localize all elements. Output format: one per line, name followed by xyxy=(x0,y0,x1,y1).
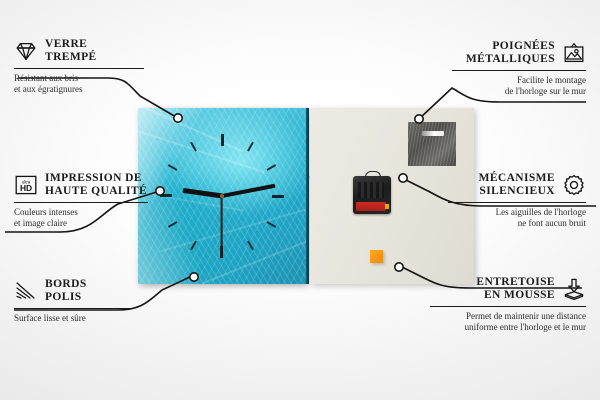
callout-bords-polis: BORDS POLIS Surface lisse et sûre xyxy=(14,278,132,324)
callout-divider xyxy=(14,308,132,309)
gear-icon xyxy=(562,173,586,197)
picture-hanger-icon xyxy=(562,41,586,65)
foam-spacer xyxy=(370,250,383,263)
callout-title-line2: HAUTE QUALITÉ xyxy=(45,185,147,198)
callout-title-line1: POIGNÉES xyxy=(466,40,555,53)
infographic-canvas: VERRE TREMPÉ Résistant aux bris et aux é… xyxy=(0,0,600,400)
callout-divider xyxy=(448,202,586,203)
callout-title-line1: ENTRETOISE xyxy=(476,276,555,289)
callout-desc-line1: Permet de maintenir une distance xyxy=(430,311,586,322)
callout-desc-line2: ne font aucun bruit xyxy=(448,218,586,229)
callout-title-line2: MÉTALLIQUES xyxy=(466,53,555,66)
callout-divider xyxy=(430,306,586,307)
hanger-plate xyxy=(408,122,456,166)
svg-text:HD: HD xyxy=(20,183,32,193)
clock-center-pin xyxy=(220,194,224,198)
mechanism-vents xyxy=(358,182,384,198)
callout-desc-line2: de l'horloge sur le mur xyxy=(452,86,586,97)
callout-title-line1: BORDS xyxy=(45,278,87,291)
callout-title-line1: VERRE xyxy=(45,38,97,51)
callout-title-line1: MÉCANISME xyxy=(479,172,555,185)
callout-mecanisme-silencieux: MÉCANISME SILENCIEUX Les aiguilles de l'… xyxy=(448,172,586,229)
clock-front-panel xyxy=(138,108,306,284)
foam-spacer-icon xyxy=(562,277,586,301)
callout-desc-line1: Les aiguilles de l'horloge xyxy=(448,207,586,218)
callout-title-line2: SILENCIEUX xyxy=(479,185,555,198)
callout-desc-line1: Surface lisse et sûre xyxy=(14,313,132,324)
callout-title-line2: EN MOUSSE xyxy=(476,289,555,302)
callout-desc-line2: et aux égratignures xyxy=(14,84,144,95)
callout-desc-line1: Résistant aux bris xyxy=(14,73,144,84)
callout-desc-line1: Facilite le montage xyxy=(452,75,586,86)
callout-divider xyxy=(14,202,148,203)
callout-desc-line1: Couleurs intenses xyxy=(14,207,148,218)
callout-divider xyxy=(14,68,144,69)
clock-mechanism xyxy=(353,176,391,214)
battery xyxy=(356,202,386,211)
callout-impression-haute-qualite: ultra HD IMPRESSION DE HAUTE QUALITÉ Cou… xyxy=(14,172,148,229)
ultra-hd-icon: ultra HD xyxy=(14,173,38,197)
product-photo xyxy=(138,108,474,284)
callout-desc-line2: et image claire xyxy=(14,218,148,229)
callout-verre-trempe: VERRE TREMPÉ Résistant aux bris et aux é… xyxy=(14,38,144,95)
diamond-icon xyxy=(14,39,38,63)
clock-face xyxy=(138,108,306,284)
callout-title-line2: POLIS xyxy=(45,291,87,304)
callout-title-line2: TREMPÉ xyxy=(45,51,97,64)
callout-title-line1: IMPRESSION DE xyxy=(45,172,147,185)
mechanism-hook xyxy=(365,171,381,180)
callout-desc-line2: uniforme entre l'horloge et le mur xyxy=(430,322,586,333)
clock-second-hand xyxy=(221,196,223,258)
polished-edges-icon xyxy=(14,279,38,303)
hanger-slot xyxy=(422,131,444,136)
callout-poignees-metalliques: POIGNÉES MÉTALLIQUES Facilite le montage… xyxy=(452,40,586,97)
callout-entretoise-en-mousse: ENTRETOISE EN MOUSSE Permet de maintenir… xyxy=(430,276,586,333)
callout-divider xyxy=(452,70,586,71)
